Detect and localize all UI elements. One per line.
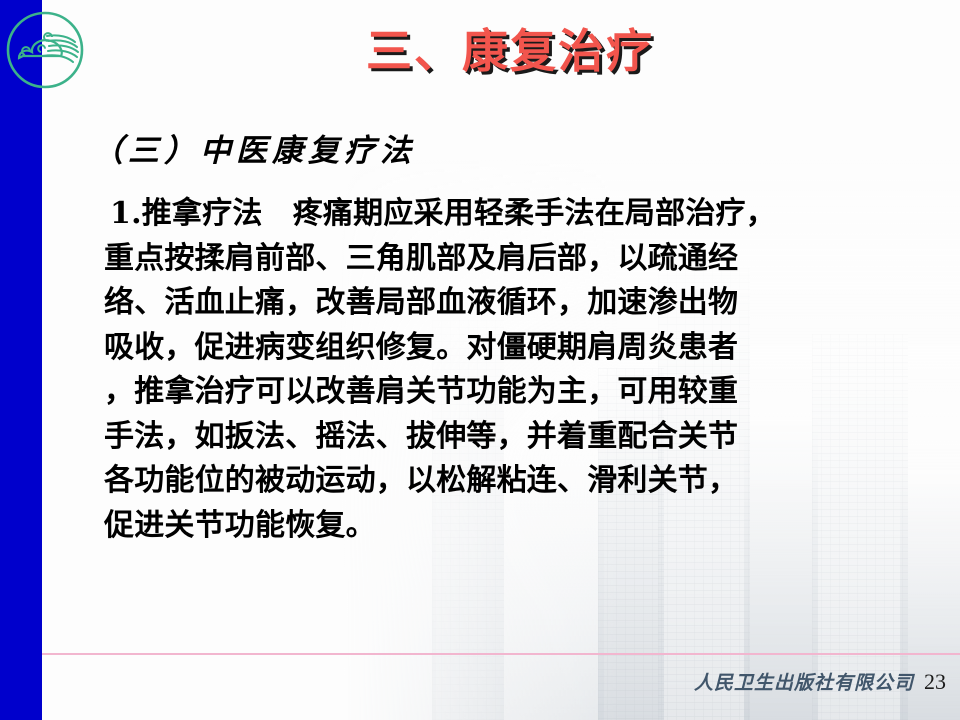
publisher-logo-icon [3, 8, 87, 92]
section-subtitle: （三）中医康复疗法 [92, 130, 416, 172]
page-number: 23 [924, 669, 946, 695]
footer-divider [42, 653, 960, 655]
body-line: ，推拿治疗可以改善肩关节功能为主，可用较重 [96, 370, 952, 415]
body-line: 促进关节功能恢复。 [96, 504, 952, 549]
body-line: 重点按揉肩前部、三角肌部及肩后部，以疏通经 [96, 237, 952, 282]
left-blue-bar [0, 0, 42, 720]
body-line: 各功能位的被动运动，以松解粘连、滑利关节， [96, 459, 952, 504]
body-line: 手法，如扳法、摇法、拔伸等，并着重配合关节 [96, 415, 952, 460]
body-line: 1.推拿疗法 疼痛期应采用轻柔手法在局部治疗， [96, 192, 952, 237]
slide: 三、康复治疗 （三）中医康复疗法 1.推拿疗法 疼痛期应采用轻柔手法在局部治疗，… [0, 0, 960, 720]
body-line: 络、活血止痛，改善局部血液循环，加速渗出物 [96, 281, 952, 326]
publisher-name: 人民卫生出版社有限公司 [694, 668, 914, 695]
body-line: 吸收，促进病变组织修复。对僵硬期肩周炎患者 [96, 326, 952, 371]
footer: 人民卫生出版社有限公司 23 [694, 668, 946, 695]
slide-title: 三、康复治疗 [300, 22, 720, 80]
body-paragraph: 1.推拿疗法 疼痛期应采用轻柔手法在局部治疗， 重点按揉肩前部、三角肌部及肩后部… [96, 192, 952, 548]
